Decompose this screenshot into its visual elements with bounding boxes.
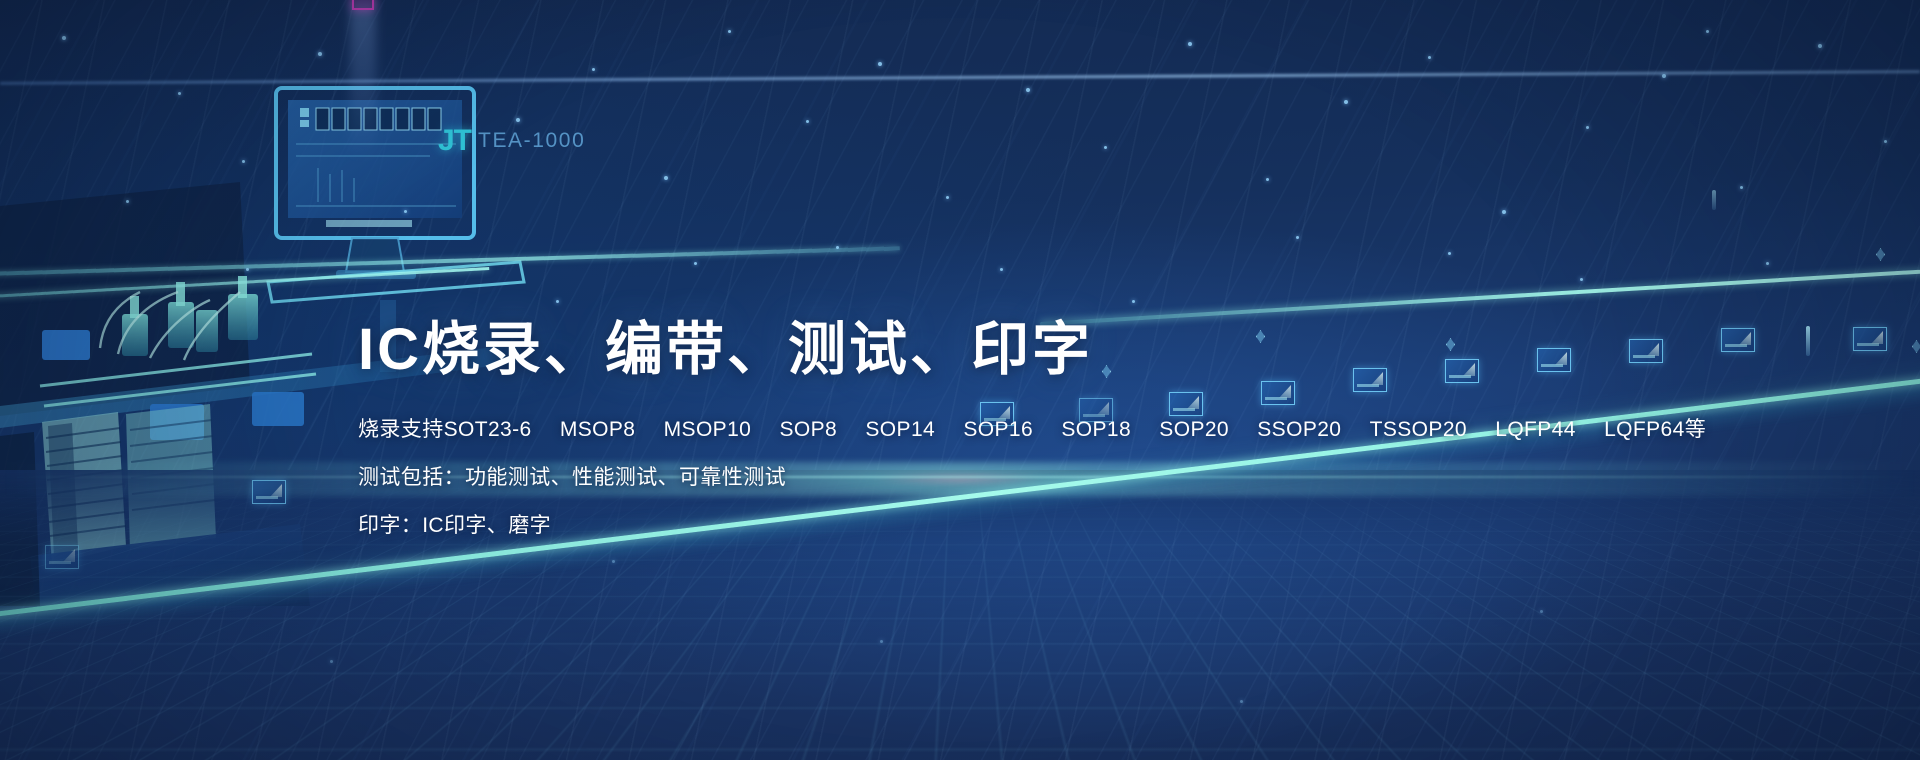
package-tssop20: TSSOP20	[1370, 419, 1467, 440]
package-msop10: MSOP10	[664, 419, 752, 440]
overhead-light-beam	[350, 0, 376, 160]
package-sop14: SOP14	[865, 419, 935, 440]
package-sop8: SOP8	[780, 419, 838, 440]
testing-scope-line: 测试包括：功能测试、性能测试、可靠性测试	[358, 467, 1678, 488]
programming-support-line: 烧录支持SOT23-6 MSOP8 MSOP10 SOP8 SOP14 SOP1…	[358, 419, 1678, 440]
package-lqfp64: LQFP64等	[1604, 419, 1706, 440]
package-ssop20: SSOP20	[1257, 419, 1341, 440]
package-sop20: SOP20	[1159, 419, 1229, 440]
marking-scope-line: 印字：IC印字、磨字	[358, 515, 1678, 536]
programming-lead-label: 烧录支持SOT23-6	[358, 419, 532, 440]
machine-model-label: TEA-1000	[478, 129, 585, 153]
package-msop8: MSOP8	[560, 419, 636, 440]
service-detail-lines: 烧录支持SOT23-6 MSOP8 MSOP10 SOP8 SOP14 SOP1…	[358, 419, 1678, 536]
equipment-logo: JT TEA-1000	[438, 124, 585, 158]
package-sop16: SOP16	[963, 419, 1033, 440]
page-title: IC烧录、编带、测试、印字	[358, 318, 1678, 383]
package-lqfp44: LQFP44	[1495, 419, 1576, 440]
jt-brand-mark: JT	[438, 124, 471, 158]
overhead-indicator-chip	[352, 0, 374, 10]
package-sop18: SOP18	[1061, 419, 1131, 440]
banner-copy: IC烧录、编带、测试、印字 烧录支持SOT23-6 MSOP8 MSOP10 S…	[358, 318, 1678, 536]
ic-service-banner: JT TEA-1000 IC烧录、编带、测试、印字 烧录支持SOT23-6 MS…	[0, 0, 1920, 760]
